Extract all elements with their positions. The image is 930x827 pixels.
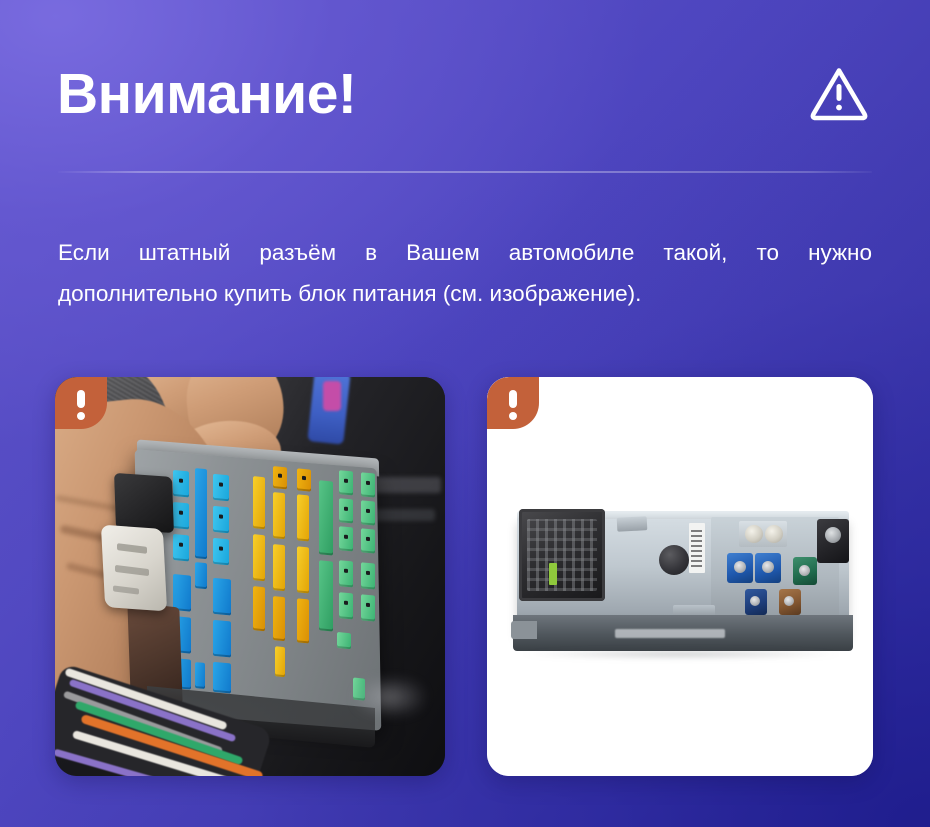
- exclamation-dot-icon: [509, 412, 517, 420]
- card-connector-photo[interactable]: [55, 377, 445, 776]
- exclamation-mark-icon: [77, 390, 85, 408]
- body-text-line-2: дополнительно купить блок питания (см. и…: [58, 273, 872, 314]
- connector-photo: [55, 377, 445, 776]
- image-cards: [55, 377, 873, 776]
- card-badge: [487, 377, 539, 429]
- page-title: Внимание!: [57, 48, 356, 140]
- header-divider: [58, 171, 872, 173]
- power-supply-photo: [487, 377, 873, 776]
- body-text: Если штатный разъём в Вашем автомобиле т…: [58, 232, 872, 314]
- card-badge: [55, 377, 107, 429]
- exclamation-dot-icon: [77, 412, 85, 420]
- body-text-line-1: Если штатный разъём в Вашем автомобиле т…: [58, 232, 872, 273]
- card-power-supply-photo[interactable]: [487, 377, 873, 776]
- warning-triangle-icon: [807, 62, 871, 126]
- warning-slide: Внимание! Если штатный разъём в Вашем ав…: [0, 0, 930, 827]
- header: Внимание!: [57, 48, 873, 144]
- exclamation-mark-icon: [509, 390, 517, 408]
